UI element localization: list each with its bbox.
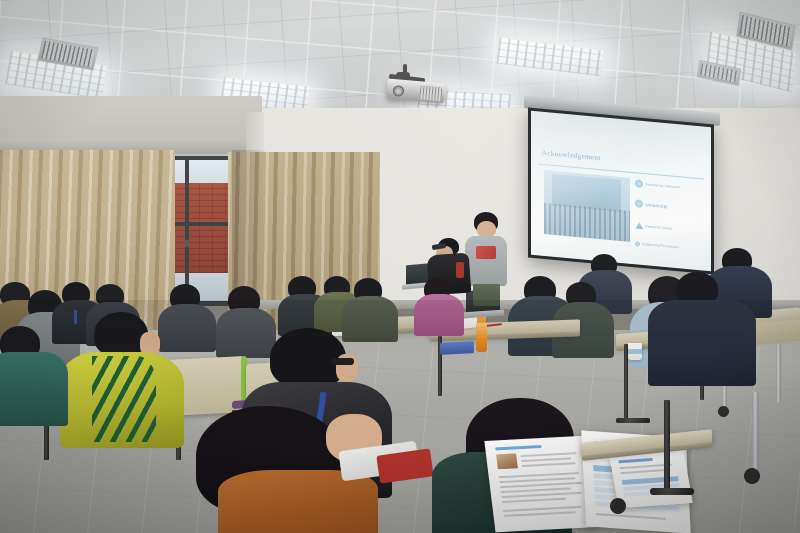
slide-logo-4: Supporting Foundation <box>635 241 678 250</box>
booklet-text-line <box>502 498 566 503</box>
slide-logo-label: University <box>645 202 667 209</box>
booklet-photo <box>496 453 518 469</box>
projector-lens <box>392 85 404 97</box>
slide-title: Acknowledgement <box>542 149 601 162</box>
booklet-text-line <box>521 457 571 462</box>
organization-logo-icon <box>635 179 643 188</box>
hoodie-graphic-print <box>476 246 496 259</box>
organization-logo-icon <box>635 241 640 246</box>
projected-slide: Acknowledgement Sponsoring Institution U… <box>531 111 711 271</box>
slide-logo-label: Sponsoring Institution <box>645 182 680 189</box>
slide-logo-2: University <box>635 199 667 210</box>
booklet-heading <box>495 445 541 450</box>
slide-logo-1: Sponsoring Institution <box>635 179 680 191</box>
desk-foot <box>650 488 694 495</box>
projector-vent <box>419 85 442 101</box>
desk-caster <box>744 468 760 484</box>
desk-caster <box>718 406 729 417</box>
attendee-teal-cardigan <box>0 352 68 426</box>
booklet-text-line <box>596 513 666 520</box>
projection-screen: Acknowledgement Sponsoring Institution U… <box>528 108 714 275</box>
desk-foot <box>616 418 650 423</box>
slide-logo-3: Research Center <box>635 221 672 232</box>
desk-caster <box>610 498 626 514</box>
presenter-gray-hoodie <box>465 236 507 286</box>
jacket-stripes <box>92 356 156 442</box>
booklet-left-page <box>484 436 597 533</box>
booklet-text-line <box>520 452 576 457</box>
desk-leg <box>664 400 670 494</box>
booklet-text-line <box>503 511 575 517</box>
slide-logo-label: Research Center <box>645 224 672 230</box>
desk-leg <box>752 392 759 476</box>
booklet-heading <box>618 458 653 463</box>
slide-group-photo <box>544 170 630 243</box>
slide-photo-crowd <box>544 203 630 242</box>
organization-logo-icon <box>635 221 643 230</box>
booklet-text-line <box>501 492 581 498</box>
organization-logo-icon <box>635 199 643 208</box>
slide-logo-label: Supporting Foundation <box>642 242 678 249</box>
ambient-shadow <box>0 300 800 360</box>
assistant-red-accent <box>456 262 464 278</box>
booklet-text-line <box>620 469 666 474</box>
booklet-text-line <box>522 462 576 467</box>
classroom-presentation-photo: Acknowledgement Sponsoring Institution U… <box>0 0 800 533</box>
